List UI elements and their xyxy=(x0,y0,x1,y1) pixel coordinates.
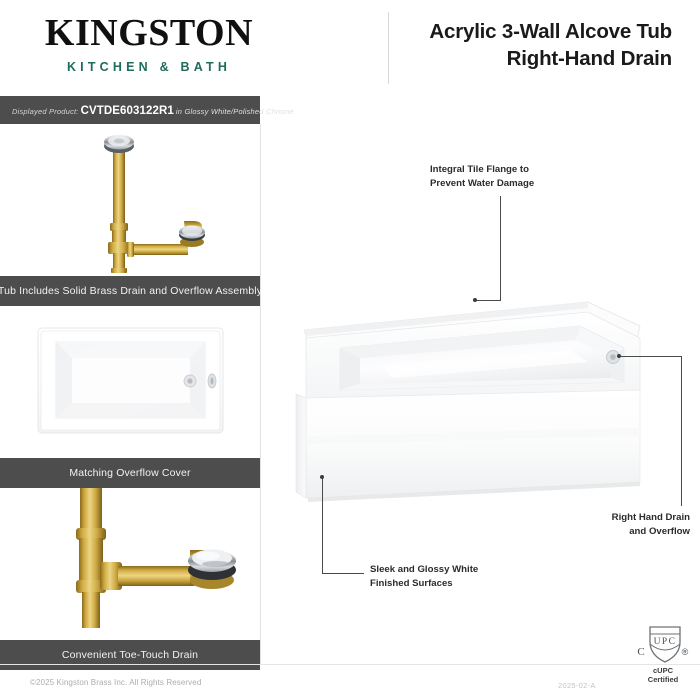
cupc-caption-line-1: cUPC xyxy=(634,666,692,675)
brand-tagline: KITCHEN & BATH xyxy=(34,60,264,74)
caption-bar-overflow-cover: Matching Overflow Cover xyxy=(0,458,260,488)
brand-name: KINGSTON xyxy=(34,14,264,54)
page-title-line-2: Right-Hand Drain xyxy=(400,45,672,72)
leader-dot-tile-flange xyxy=(473,298,477,302)
alcove-tub-top-view-photo xyxy=(0,306,260,458)
callout-tile-flange-line-1: Integral Tile Flange to xyxy=(430,163,534,177)
header-divider xyxy=(388,12,389,84)
copyright-text: ©2025 Kingston Brass Inc. All Rights Res… xyxy=(30,678,201,687)
caption-text-toe-touch: Convenient Toe-Touch Drain xyxy=(62,649,198,661)
displayed-product-label: Displayed Product: xyxy=(12,107,79,116)
caption-text-drain-assembly: Tub Includes Solid Brass Drain and Overf… xyxy=(0,285,262,297)
document-version: 2025-02-A xyxy=(558,681,596,690)
leader-line-tile-flange-horizontal xyxy=(475,300,501,301)
callout-glossy-finish-line-2: Finished Surfaces xyxy=(370,577,478,591)
leader-line-gloss-horizontal xyxy=(322,573,364,574)
page-header: KINGSTON KITCHEN & BATH Acrylic 3-Wall A… xyxy=(0,0,700,92)
cupc-certification-badge: UPC C ® cUPC Certified xyxy=(634,622,692,686)
callout-tile-flange-line-2: Prevent Water Damage xyxy=(430,177,534,191)
brand-logo: KINGSTON KITCHEN & BATH xyxy=(34,14,264,74)
drain-assembly-illustration xyxy=(0,124,260,276)
leader-dot-gloss xyxy=(320,475,324,479)
cupc-caption-line-2: Certified xyxy=(634,675,692,684)
callout-right-hand-drain-line-2: and Overflow xyxy=(528,525,690,539)
cupc-caption: cUPC Certified xyxy=(634,666,692,685)
product-infographic-page: KINGSTON KITCHEN & BATH Acrylic 3-Wall A… xyxy=(0,0,700,700)
svg-text:®: ® xyxy=(682,647,689,657)
toe-touch-drain-closeup-photo xyxy=(0,488,260,640)
callout-right-hand-drain-line-1: Right Hand Drain xyxy=(528,511,690,525)
caption-bar-drain-assembly: Tub Includes Solid Brass Drain and Overf… xyxy=(0,276,260,306)
acrylic-alcove-tub-hero-photo xyxy=(288,286,648,521)
tub-hero-illustration xyxy=(288,286,648,521)
callout-tile-flange: Integral Tile Flange to Prevent Water Da… xyxy=(430,163,534,190)
callout-glossy-finish: Sleek and Glossy White Finished Surfaces xyxy=(370,563,478,590)
displayed-product-banner: Displayed Product:CVTDE603122R1in Glossy… xyxy=(0,96,260,124)
svg-text:UPC: UPC xyxy=(654,637,677,647)
leader-dot-drain xyxy=(617,354,621,358)
column-divider xyxy=(260,124,261,664)
tub-top-view-illustration xyxy=(0,306,260,458)
toe-touch-drain-illustration xyxy=(0,488,260,640)
leader-line-tile-flange-vertical xyxy=(500,196,501,301)
product-sku: CVTDE603122R1 xyxy=(79,105,176,117)
page-title: Acrylic 3-Wall Alcove Tub Right-Hand Dra… xyxy=(400,18,672,72)
drain-overflow-assembly-photo xyxy=(0,124,260,276)
svg-text:C: C xyxy=(637,646,644,658)
cupc-shield-icon: UPC C ® xyxy=(634,622,692,666)
callout-glossy-finish-line-1: Sleek and Glossy White xyxy=(370,563,478,577)
leader-line-gloss-vertical xyxy=(322,477,323,574)
displayed-product-text: Displayed Product:CVTDE603122R1in Glossy… xyxy=(0,101,294,119)
caption-text-overflow-cover: Matching Overflow Cover xyxy=(69,467,190,479)
leader-line-drain-horizontal xyxy=(620,356,682,357)
product-finish: in Glossy White/Polished Chrome xyxy=(176,107,294,116)
footer-divider xyxy=(0,664,700,665)
page-title-line-1: Acrylic 3-Wall Alcove Tub xyxy=(400,18,672,45)
callout-right-hand-drain: Right Hand Drain and Overflow xyxy=(528,511,690,538)
leader-line-drain-vertical xyxy=(681,356,682,506)
feature-photo-column: Tub Includes Solid Brass Drain and Overf… xyxy=(0,124,260,670)
caption-bar-toe-touch: Convenient Toe-Touch Drain xyxy=(0,640,260,670)
